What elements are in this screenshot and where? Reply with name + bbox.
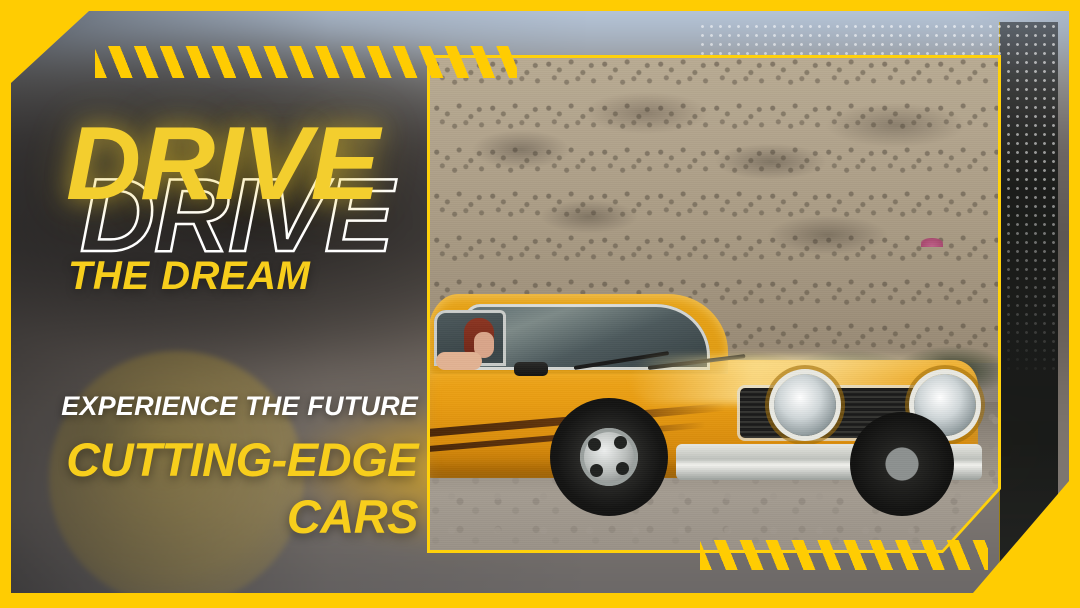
driver-arm (436, 352, 482, 370)
diagonal-stripes-bottom (700, 540, 988, 570)
headline-cars: CARS (0, 493, 418, 540)
kicker-text: EXPERIENCE THE FUTURE (0, 392, 418, 420)
rim-hole (590, 464, 603, 477)
side-mirror (514, 362, 548, 376)
rim-hole (614, 436, 627, 449)
classic-car (430, 248, 982, 516)
rear-wheel (850, 412, 954, 516)
pink-umbrella (921, 238, 943, 247)
right-dark-panel (999, 22, 1058, 578)
photo-frame (427, 55, 1001, 553)
car-photo (430, 58, 998, 550)
headline-cutting-edge: CUTTING-EDGE (0, 436, 418, 483)
photo-scene (430, 58, 998, 550)
copy-block: DRIVE DRIVE THE DREAM EXPERIENCE THE FUT… (0, 0, 430, 608)
lower-copy-block: EXPERIENCE THE FUTURE CUTTING-EDGE CARS (0, 392, 426, 540)
rim-hole (588, 438, 601, 451)
rim-hole (616, 462, 629, 475)
headlight-left (774, 374, 836, 436)
front-wheel (550, 398, 668, 516)
wheel-rim (580, 428, 638, 486)
drive-fill-text: DRIVE (66, 112, 379, 216)
banner-stage: DRIVE DRIVE THE DREAM EXPERIENCE THE FUT… (0, 0, 1080, 608)
subtitle-the-dream: THE DREAM (68, 256, 310, 296)
drive-headline-group: DRIVE DRIVE (58, 112, 428, 262)
